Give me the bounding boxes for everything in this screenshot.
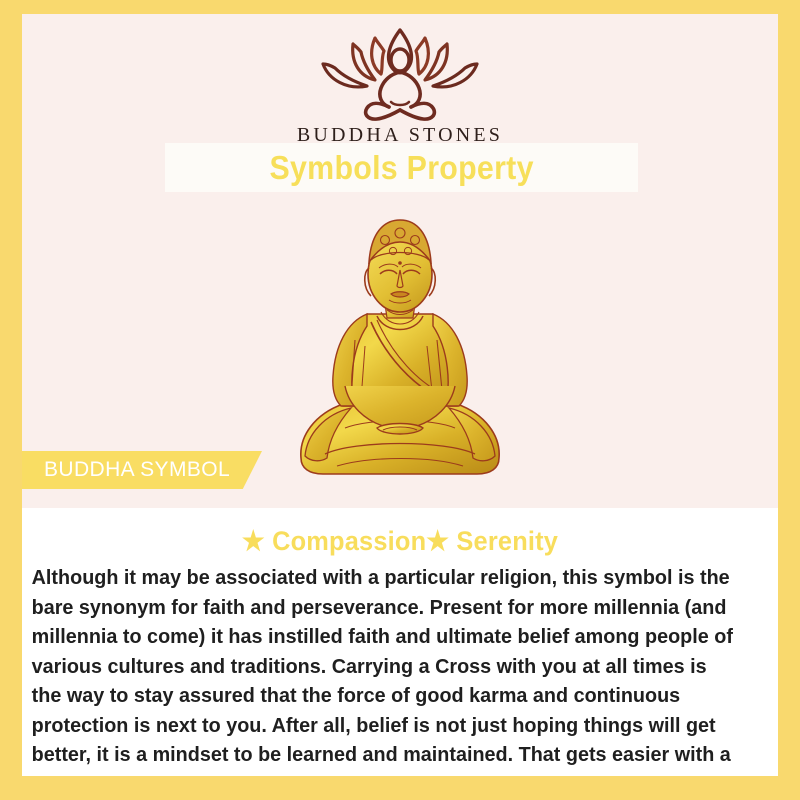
- lotus-meditation-logo-icon: [22, 22, 778, 122]
- content-body-text: Although it may be associated with a par…: [22, 557, 752, 776]
- buddha-symbol-ribbon-label: BUDDHA SYMBOL: [44, 458, 230, 482]
- golden-buddha-statue-icon: [285, 200, 515, 490]
- content-heading: ★ Compassion★ Serenity: [45, 508, 756, 557]
- inner-panel: BUDDHA STONES Symbols Property: [22, 14, 778, 776]
- buddha-symbol-ribbon: BUDDHA SYMBOL: [22, 451, 262, 489]
- title-banner: Symbols Property: [165, 143, 638, 192]
- poster-root: BUDDHA STONES Symbols Property: [0, 0, 800, 800]
- page-title: Symbols Property: [269, 149, 533, 187]
- brand-header: BUDDHA STONES: [22, 22, 778, 147]
- content-section: ★ Compassion★ Serenity Although it may b…: [22, 508, 778, 776]
